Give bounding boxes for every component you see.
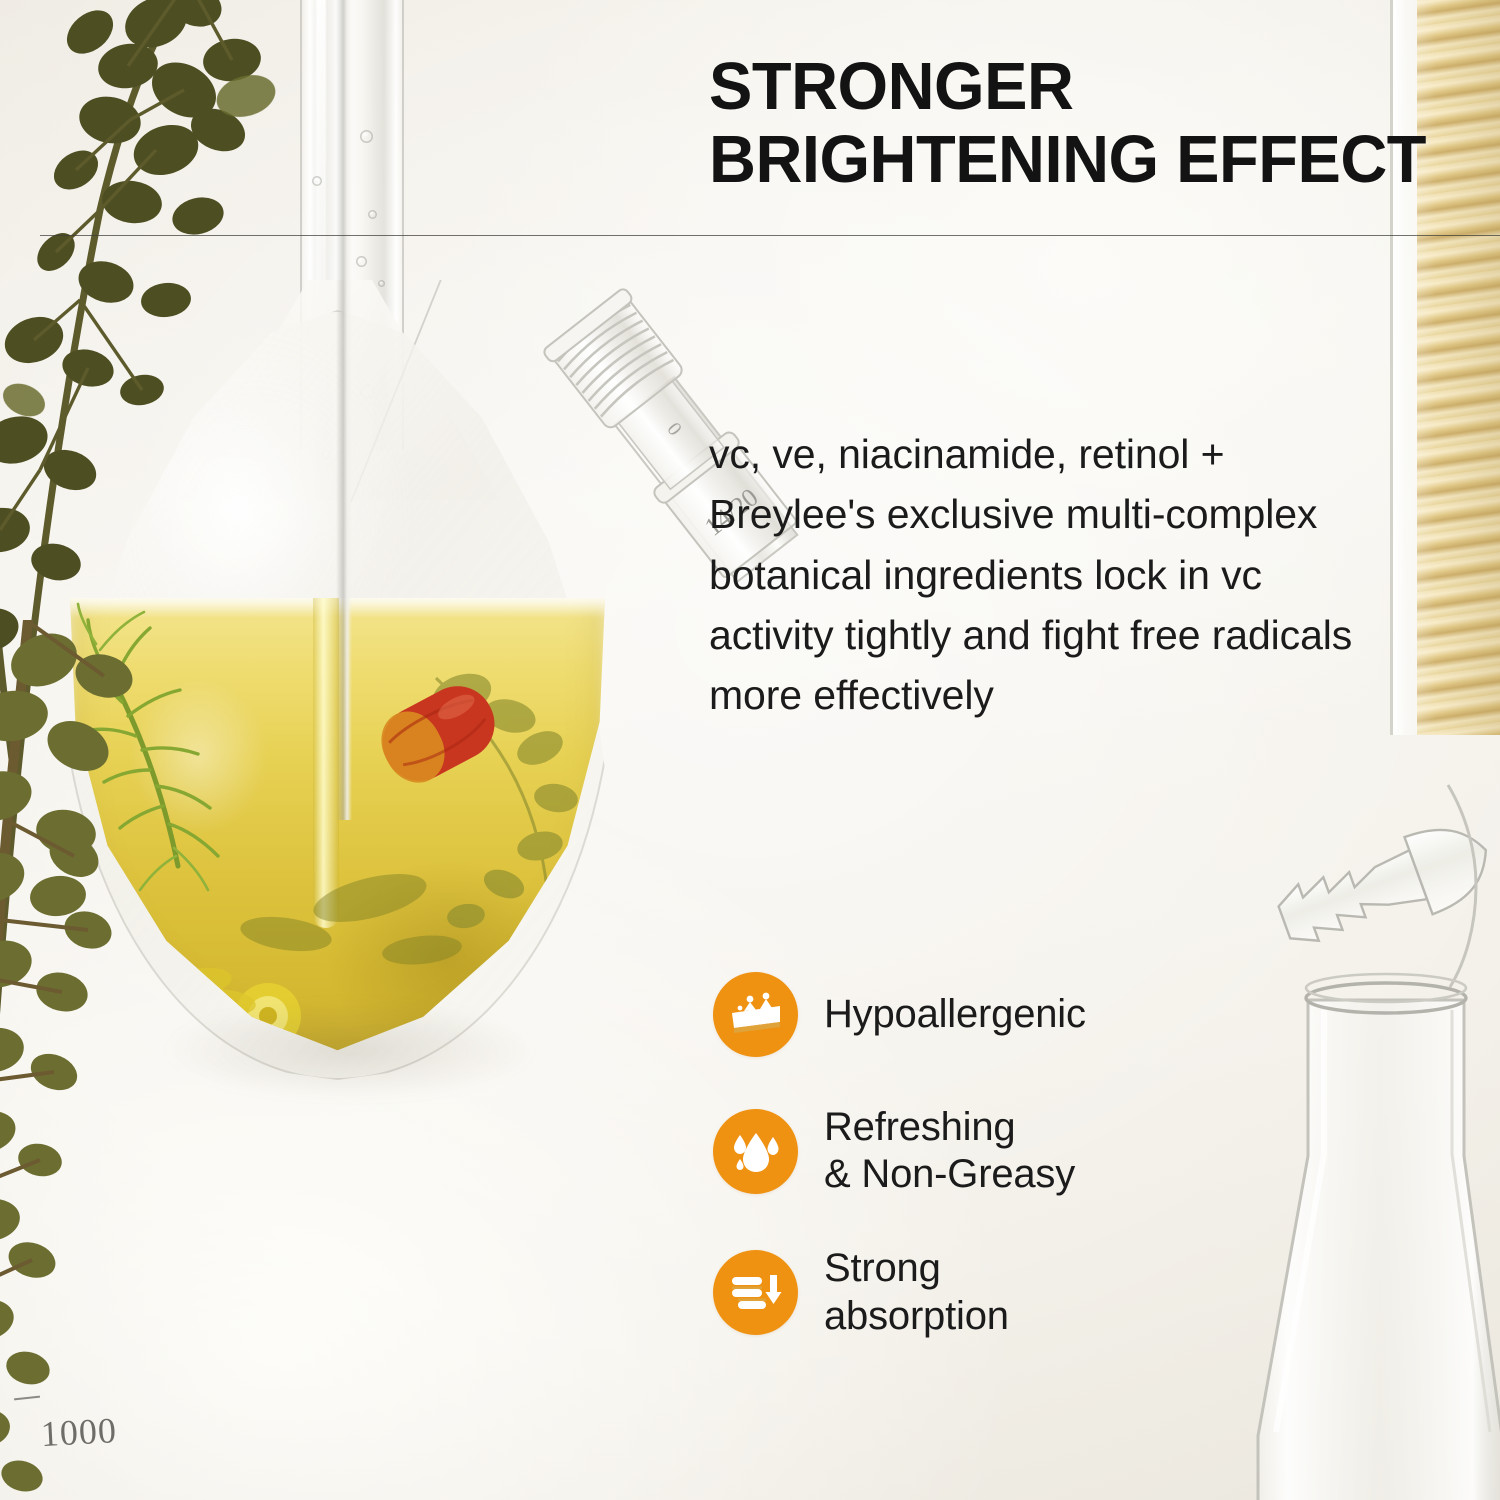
erlenmeyer-flask — [1250, 966, 1500, 1500]
feature-item: Strong absorption — [713, 1245, 1233, 1339]
feature-item: Refreshing & Non-Greasy — [713, 1104, 1233, 1198]
feature-list: Hypoallergenic Refreshing & Non-Greasy — [713, 972, 1233, 1340]
eucalyptus-leaves — [0, 624, 138, 1496]
headline-line-1: STRONGER — [709, 49, 1073, 124]
glass-bubble — [356, 256, 367, 267]
feature-label: Refreshing & Non-Greasy — [824, 1104, 1075, 1198]
body-copy: vc, ve, niacinamide, retinol + Breylee's… — [709, 424, 1369, 725]
page-title: STRONGER BRIGHTENING EFFECT — [709, 50, 1475, 197]
feature-label: Hypoallergenic — [824, 991, 1086, 1038]
absorption-bars-down-arrow-icon — [713, 1250, 798, 1335]
header-divider — [40, 235, 1500, 236]
glass-bubble — [312, 176, 322, 186]
eucalyptus-branch-lower — [0, 620, 270, 1500]
feature-item: Hypoallergenic — [713, 972, 1233, 1057]
glass-hose-barb-connector — [1270, 775, 1500, 990]
feature-label: Strong absorption — [824, 1245, 1009, 1339]
cream-swatch-sparkle-icon — [713, 972, 798, 1057]
glass-bubble — [360, 130, 373, 143]
flask-inner-tube — [336, 0, 352, 820]
headline-line-2: BRIGHTENING EFFECT — [709, 123, 1475, 196]
glass-bubble — [368, 210, 377, 219]
water-droplets-icon — [713, 1109, 798, 1194]
product-infographic: 14/20 0 — [0, 0, 1500, 1500]
